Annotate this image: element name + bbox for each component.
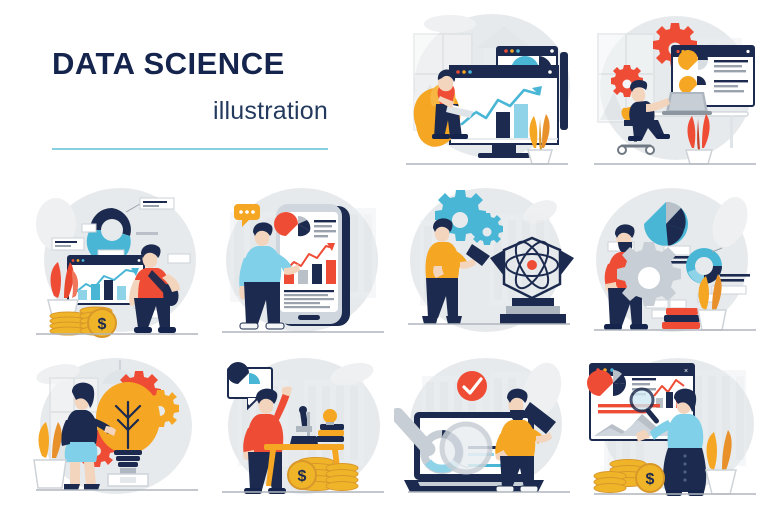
page-title: DATA SCIENCE: [52, 48, 328, 81]
large-gear: [617, 242, 681, 306]
panel-analyst-beanbag: [392, 8, 578, 176]
panel-dashboard-review: ×: [580, 350, 766, 508]
dollar-coin: $: [88, 309, 116, 337]
bar-2: [514, 104, 528, 138]
title-divider: [52, 148, 328, 150]
svg-text:×: ×: [684, 368, 688, 375]
dollar-coin: $: [636, 464, 664, 492]
background-ellipse: [424, 15, 476, 33]
page-subtitle: illustration: [52, 97, 328, 126]
title-block: DATA SCIENCE illustration: [52, 48, 328, 153]
desk-leg: [730, 116, 733, 148]
panel-lab-science: $: [208, 350, 394, 508]
panel-research-atom: [394, 180, 580, 348]
svg-text:$: $: [98, 316, 107, 333]
panel-money-analytics: $: [22, 180, 208, 348]
dollar-coin: $: [288, 461, 316, 489]
svg-text:$: $: [298, 468, 307, 485]
blue-gear-small: [471, 213, 503, 245]
panel-idea-lightbulb: [22, 350, 208, 508]
panel-developer-desk: [580, 8, 766, 176]
illustration-sheet: DATA SCIENCE illustration: [0, 0, 768, 511]
panel-data-audit: [394, 350, 580, 508]
monitor-side-panel: [560, 52, 568, 130]
svg-text:$: $: [646, 471, 655, 488]
book-stack: [316, 424, 344, 442]
bar-1: [496, 112, 510, 138]
panel-mobile-analytics: [208, 180, 394, 348]
panel-gear-reports: [580, 180, 766, 348]
book-stack: [662, 308, 700, 329]
red-check-badge: [457, 371, 487, 401]
